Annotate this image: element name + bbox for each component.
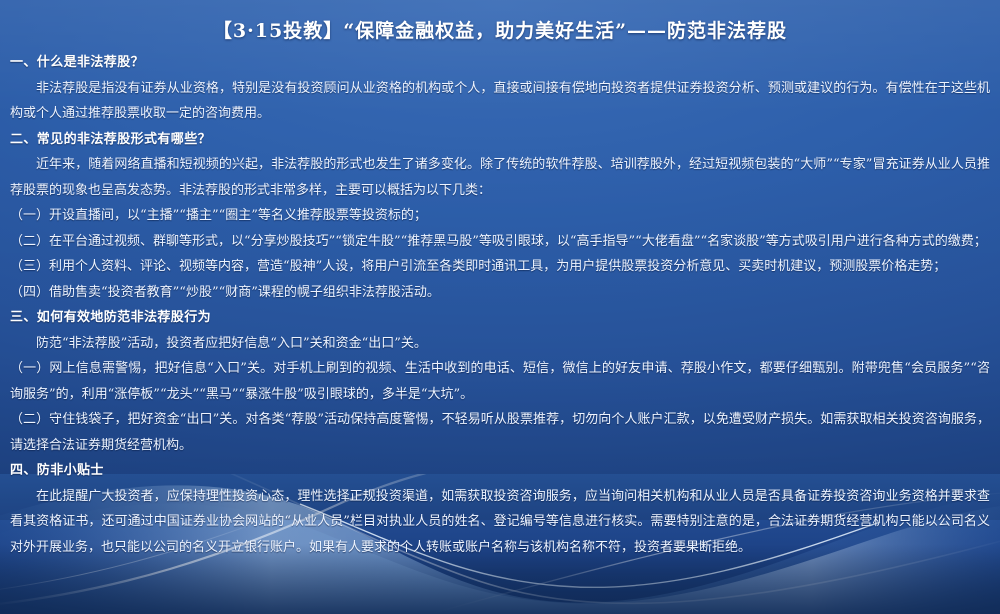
section-item-2-4: （四）借助售卖“投资者教育”“炒股”“财商”课程的幌子组织非法荐股活动。 (10, 280, 990, 306)
document-body: 一、什么是非法荐股？ 非法荐股是指没有证券从业资格，特别是没有投资顾问从业资格的… (10, 50, 990, 510)
section-item-2-2: （二）在平台通过视频、群聊等形式，以“分享炒股技巧”“锁定牛股”“推荐黑马股”等… (10, 229, 990, 255)
section-heading-1: 一、什么是非法荐股？ (10, 50, 990, 76)
section-paragraph-3-1: 防范“非法荐股”活动，投资者应把好信息“入口”关和资金“出口”关。 (10, 331, 990, 357)
section-paragraph-1-1: 非法荐股是指没有证券从业资格，特别是没有投资顾问从业资格的机构或个人，直接或间接… (10, 76, 990, 127)
section-item-3-2: （二）守住钱袋子，把好资金“出口”关。对各类“荐股”活动保持高度警惕，不轻易听从… (10, 407, 990, 458)
section-heading-3: 三、如何有效地防范非法荐股行为 (10, 305, 990, 331)
section-paragraph-4-1: 在此提醒广大投资者，应保持理性投资心态，理性选择正规投资渠道，如需获取投资咨询服… (10, 484, 990, 561)
section-item-2-3: （三）利用个人资料、评论、视频等内容，营造“股神”人设，将用户引流至各类即时通讯… (10, 254, 990, 280)
section-item-2-1: （一）开设直播间，以“主播”“播主”“圈主”等名义推荐股票等投资标的； (10, 203, 990, 229)
section-heading-4: 四、防非小贴士 (10, 458, 990, 484)
section-item-3-1: （一）网上信息需警惕，把好信息“入口”关。对手机上刷到的视频、生活中收到的电话、… (10, 356, 990, 407)
section-heading-2: 二、常见的非法荐股形式有哪些？ (10, 127, 990, 153)
poster-canvas: 【3·15投教】“保障金融权益，助力美好生活”——防范非法荐股 一、什么是非法荐… (0, 0, 1000, 614)
page-title: 【3·15投教】“保障金融权益，助力美好生活”——防范非法荐股 (0, 16, 1000, 43)
section-paragraph-2-1: 近年来，随着网络直播和短视频的兴起，非法荐股的形式也发生了诸多变化。除了传统的软… (10, 152, 990, 203)
